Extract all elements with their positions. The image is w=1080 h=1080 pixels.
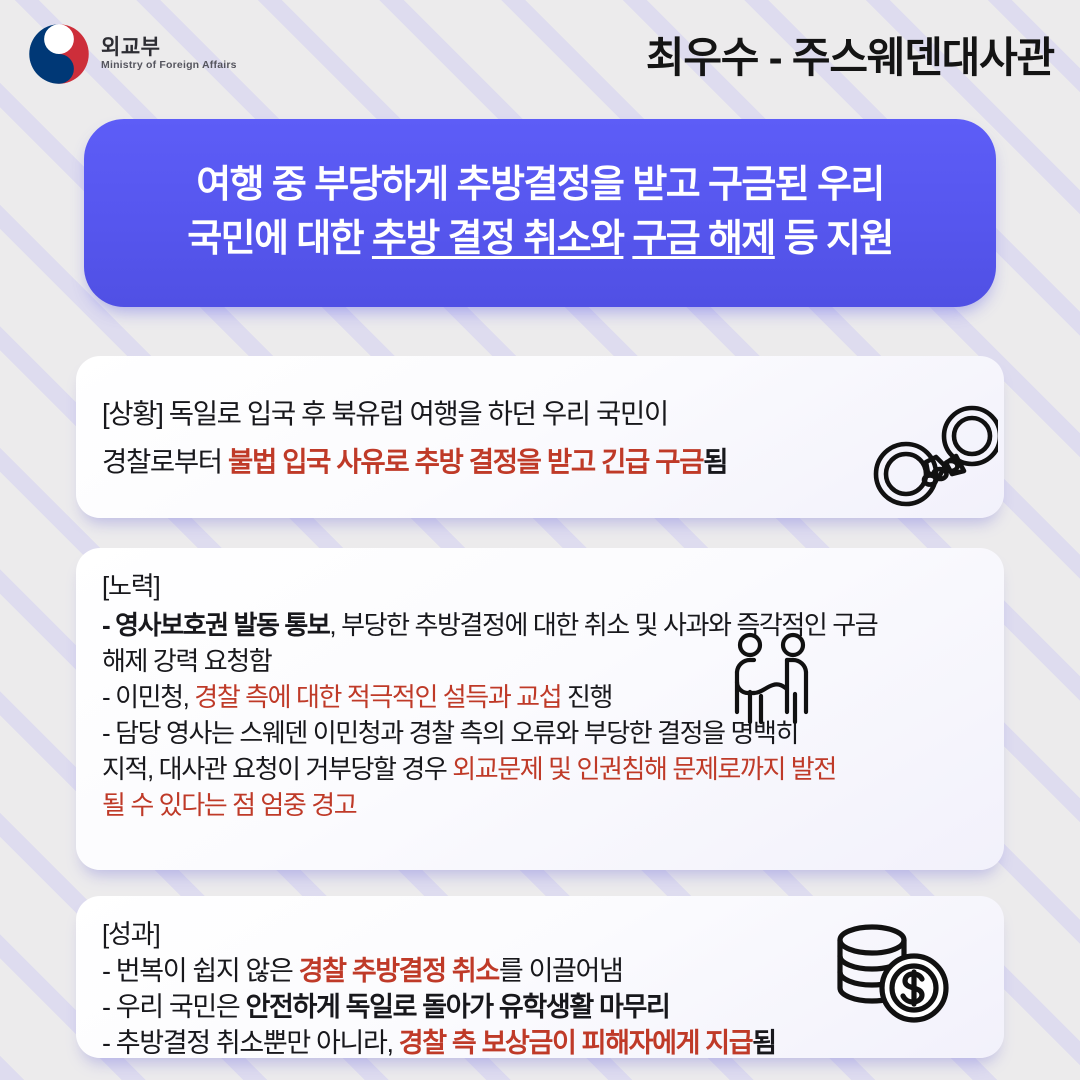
efforts-line-3-accent: 경찰 측에 대한 적극적인 설득과 교섭: [194, 682, 561, 712]
ministry-brand: 외교부 Ministry of Foreign Affairs: [28, 23, 237, 85]
efforts-line-1: - 영사보호권 발동 통보, 부당한 추방결정에 대한 취소 및 사과와 즉각적…: [102, 607, 978, 643]
efforts-line-5: 지적, 대사관 요청이 거부당할 경우 외교문제 및 인권침해 문제로까지 발전: [102, 751, 978, 787]
efforts-line-3-lead: - 이민청,: [102, 682, 194, 712]
headline-seg-space: [623, 218, 632, 260]
efforts-line-1-dash: -: [102, 610, 115, 640]
headline-seg-a: 국민에 대한: [187, 218, 372, 260]
card-results: [성과] - 번복이 쉽지 않은 경찰 추방결정 취소를 이끌어냄 - 우리 국…: [76, 896, 1004, 1058]
results-label: [성과]: [102, 918, 978, 951]
headline-banner: 여행 중 부당하게 추방결정을 받고 구금된 우리 국민에 대한 추방 결정 취…: [84, 119, 996, 307]
results-line-3-tail: 됨: [752, 1028, 776, 1058]
results-line-1-tail: 를 이끌어냄: [499, 956, 623, 986]
headline-seg-e: 등 지원: [775, 218, 893, 260]
infographic-page: 외교부 Ministry of Foreign Affairs 최우수 - 주스…: [0, 0, 1080, 1080]
efforts-line-6: 될 수 있다는 점 엄중 경고: [102, 787, 978, 823]
efforts-line-3: - 이민청, 경찰 측에 대한 적극적인 설득과 교섭 진행: [102, 679, 978, 715]
results-line-2: - 우리 국민은 안전하게 독일로 돌아가 유학생활 마무리: [102, 989, 978, 1025]
efforts-line-5-lead: 지적, 대사관 요청이 거부당할 경우: [102, 754, 452, 784]
situation-line-2: 경찰로부터 불법 입국 사유로 추방 결정을 받고 긴급 구금됨: [102, 444, 978, 480]
results-line-1-accent: 경찰 추방결정 취소: [299, 956, 499, 986]
card-efforts: [노력] - 영사보호권 발동 통보, 부당한 추방결정에 대한 취소 및 사과…: [76, 548, 1004, 870]
brand-text-block: 외교부 Ministry of Foreign Affairs: [101, 37, 237, 72]
card-situation: [상황] 독일로 입국 후 북유럽 여행을 하던 우리 국민이 경찰로부터 불법…: [76, 356, 1004, 518]
efforts-line-4: - 담당 영사는 스웨덴 이민청과 경찰 측의 오류와 부당한 결정을 명백히: [102, 715, 978, 751]
headline-line-1: 여행 중 부당하게 추방결정을 받고 구금된 우리: [196, 159, 884, 213]
efforts-line-3-tail: 진행: [561, 682, 612, 712]
results-line-2-bold: 안전하게 독일로 돌아가 유학생활 마무리: [246, 992, 670, 1022]
results-line-2-lead: - 우리 국민은: [102, 992, 246, 1022]
efforts-line-1-rest: , 부당한 추방결정에 대한 취소 및 사과와 즉각적인 구금: [329, 610, 877, 640]
situation-line-2-lead: 경찰로부터: [102, 446, 228, 477]
situation-line-2-accent: 불법 입국 사유로 추방 결정을 받고 긴급 구금: [228, 446, 703, 477]
results-line-3: - 추방결정 취소뿐만 아니라, 경찰 측 보상금이 피해자에게 지급됨: [102, 1025, 978, 1058]
brand-name-korean: 외교부: [101, 37, 237, 59]
brand-name-english: Ministry of Foreign Affairs: [101, 60, 237, 72]
results-line-1-lead: - 번복이 쉽지 않은: [102, 956, 299, 986]
headline-seg-underline-1: 추방 결정 취소와: [372, 218, 623, 260]
efforts-label: [노력]: [102, 570, 978, 603]
page-title: 최우수 - 주스웨덴대사관: [646, 24, 1054, 85]
situation-label: [상황]: [102, 398, 162, 429]
headline-seg-underline-2: 구금 해제: [632, 218, 774, 260]
results-line-3-lead: - 추방결정 취소뿐만 아니라,: [102, 1028, 399, 1058]
situation-line-2-tail: 됨: [703, 446, 727, 477]
taegeuk-logo-icon: [28, 23, 90, 85]
situation-line-1: [상황] 독일로 입국 후 북유럽 여행을 하던 우리 국민이: [102, 396, 978, 432]
page-header: 외교부 Ministry of Foreign Affairs 최우수 - 주스…: [0, 0, 1080, 108]
results-line-1: - 번복이 쉽지 않은 경찰 추방결정 취소를 이끌어냄: [102, 953, 978, 989]
efforts-line-1-bold: 영사보호권 발동 통보: [115, 610, 329, 640]
efforts-line-2: 해제 강력 요청함: [102, 643, 978, 679]
results-line-3-accent: 경찰 측 보상금이 피해자에게 지급: [399, 1028, 752, 1058]
situation-line-1-text: 독일로 입국 후 북유럽 여행을 하던 우리 국민이: [162, 398, 667, 429]
efforts-line-5-accent: 외교문제 및 인권침해 문제로까지 발전: [452, 754, 836, 784]
headline-line-2: 국민에 대한 추방 결정 취소와 구금 해제 등 지원: [187, 213, 893, 267]
